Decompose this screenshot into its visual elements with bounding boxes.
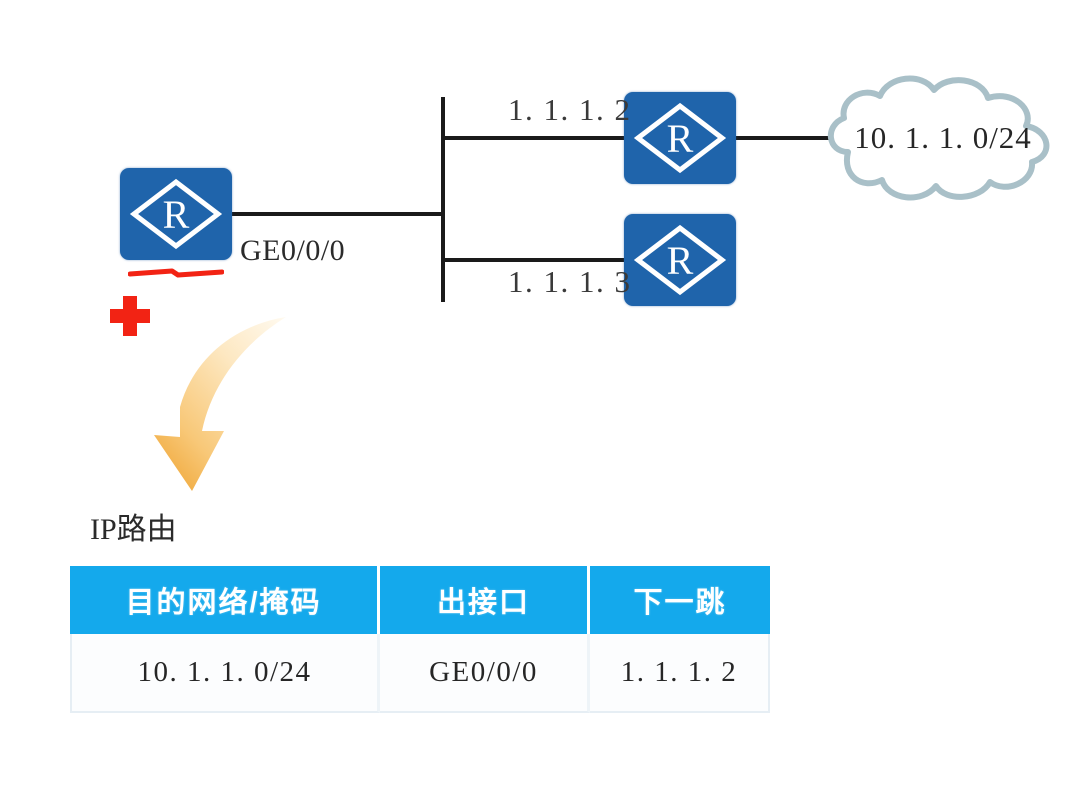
left-interface-label: GE0/0/0 [240,234,345,268]
red-underline-icon [128,266,224,278]
router-icon: R [624,92,736,184]
router-icon: R [624,214,736,306]
svg-text:R: R [163,192,190,237]
top-router-node[interactable]: R [624,92,736,184]
cloud-network-label: 10. 1. 1. 0/24 [818,68,1068,208]
left-router-node[interactable]: R [120,168,232,260]
column-header-interface: 出接口 [380,566,590,634]
link-left-router-to-bus [231,212,445,216]
table-header-row: 目的网络/掩码 出接口 下一跳 [70,566,770,634]
svg-text:R: R [667,238,694,283]
cell-next-hop: 1. 1. 1. 2 [590,634,770,713]
diagram-canvas: R R R 1. 1. 1. 2 1. 1. 1. 3 GE0/0/0 10. … [0,0,1080,788]
ip-route-table: 目的网络/掩码 出接口 下一跳 10. 1. 1. 0/24 GE0/0/0 1… [70,566,770,713]
column-header-next-hop: 下一跳 [590,566,770,634]
cell-interface: GE0/0/0 [380,634,590,713]
top-link-ip-label: 1. 1. 1. 2 [508,92,632,128]
column-header-destination: 目的网络/掩码 [70,566,380,634]
route-table-title: IP路由 [90,504,177,548]
table-row: 10. 1. 1. 0/24 GE0/0/0 1. 1. 1. 2 [70,634,770,713]
bottom-router-node[interactable]: R [624,214,736,306]
router-icon: R [120,168,232,260]
link-bus-to-top-router [441,136,629,140]
bus-backbone-line [441,97,445,302]
svg-text:R: R [667,116,694,161]
network-cloud[interactable]: 10. 1. 1. 0/24 [818,68,1068,208]
cell-destination: 10. 1. 1. 0/24 [70,634,380,713]
curved-arrow-icon [118,295,318,495]
bottom-link-ip-label: 1. 1. 1. 3 [508,264,632,300]
link-bus-to-bottom-router [441,258,629,262]
